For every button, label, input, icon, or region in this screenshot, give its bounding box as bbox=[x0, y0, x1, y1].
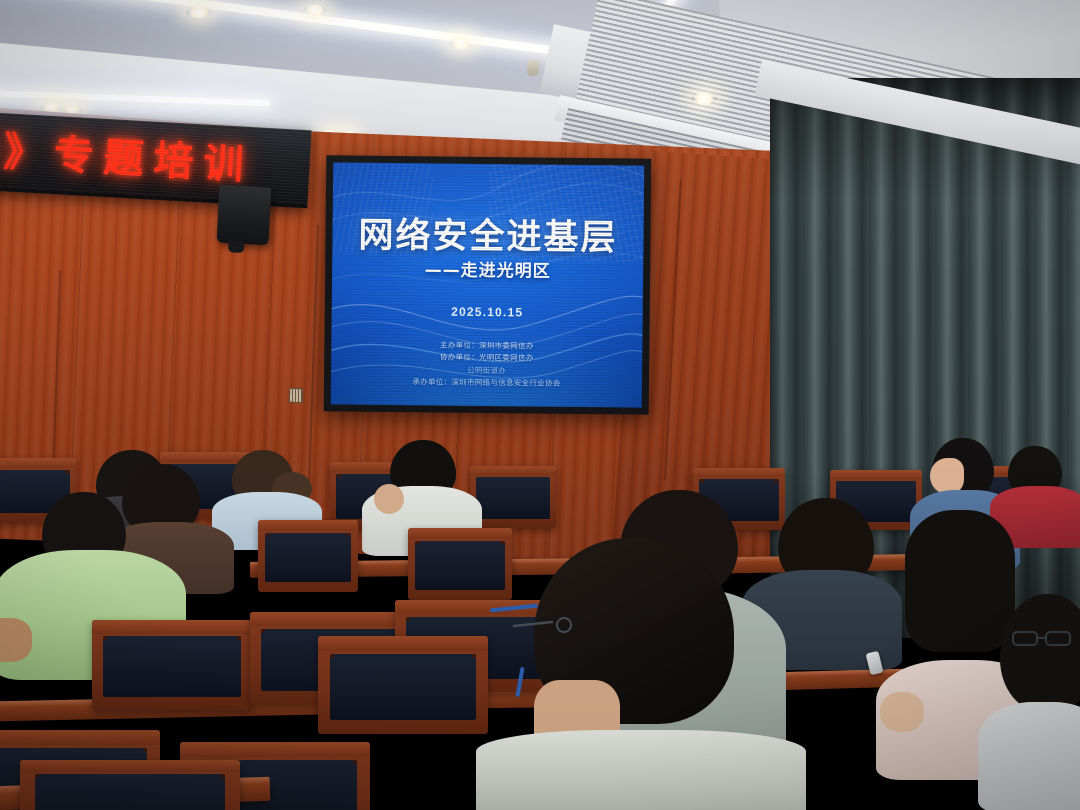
seat bbox=[20, 760, 240, 810]
presentation-slide: 网络安全进基层 ——走进光明区 2025.10.15 主办单位：深圳市委网信办协… bbox=[331, 162, 645, 407]
ceiling-downlight bbox=[186, 6, 212, 18]
sprinkler-head bbox=[527, 60, 539, 76]
seat bbox=[470, 466, 556, 528]
seat bbox=[408, 528, 512, 600]
wall-speaker bbox=[217, 185, 272, 246]
ceiling-downlight bbox=[449, 37, 473, 49]
led-display-frame: 网络安全进基层 ——走进光明区 2025.10.15 主办单位：深圳市委网信办协… bbox=[324, 155, 652, 414]
conference-hall-photo: 训》专题培训 网络安全进基层 ——走进光明区 2025.10.15 主办单位：深… bbox=[0, 0, 1080, 810]
slide-organizer-list: 主办单位：深圳市委网信办协办单位：光明区委网信办公明街道办承办单位：深圳市网络与… bbox=[331, 338, 643, 391]
slide-title: 网络安全进基层 bbox=[332, 206, 644, 260]
slide-subtitle: ——走进光明区 bbox=[332, 254, 643, 282]
seat bbox=[92, 620, 252, 710]
eyeglasses-icon bbox=[1012, 628, 1080, 650]
eyeglasses-icon bbox=[512, 616, 602, 642]
ceiling-downlight bbox=[691, 92, 717, 105]
wall-outlet-plate bbox=[289, 388, 304, 403]
seat bbox=[258, 520, 358, 592]
audience-seating-area bbox=[0, 430, 1080, 810]
seat bbox=[318, 636, 488, 734]
ceiling-downlight bbox=[303, 5, 327, 16]
